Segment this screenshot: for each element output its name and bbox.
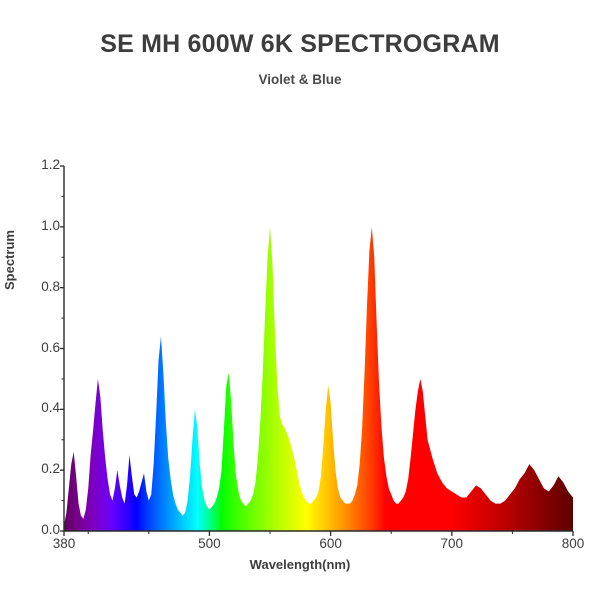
y-axis-tick-label: 0.2	[24, 461, 60, 476]
y-axis-tick-label: 0.6	[24, 340, 60, 355]
y-axis-tick-label: 0.0	[24, 522, 60, 537]
x-axis-label: Wavelength(nm)	[0, 557, 600, 572]
spectrum-plot-area	[0, 0, 600, 600]
y-axis-label: Spectrum	[2, 230, 17, 290]
spectrogram-figure: SE MH 600W 6K SPECTROGRAM Violet & Blue …	[0, 0, 600, 600]
y-axis-tick-label: 0.8	[24, 279, 60, 294]
x-axis-tick-label: 380	[39, 536, 89, 551]
x-axis-tick-label: 600	[306, 536, 356, 551]
x-axis-tick-label: 800	[548, 536, 598, 551]
y-axis-tick-label: 0.4	[24, 400, 60, 415]
y-axis-tick-label: 1.0	[24, 218, 60, 233]
page-title: SE MH 600W 6K SPECTROGRAM	[0, 30, 600, 59]
chart-subtitle: Violet & Blue	[0, 72, 600, 87]
x-axis-tick-label: 500	[184, 536, 234, 551]
y-axis-tick-label: 1.2	[24, 157, 60, 172]
x-axis-tick-label: 700	[427, 536, 477, 551]
